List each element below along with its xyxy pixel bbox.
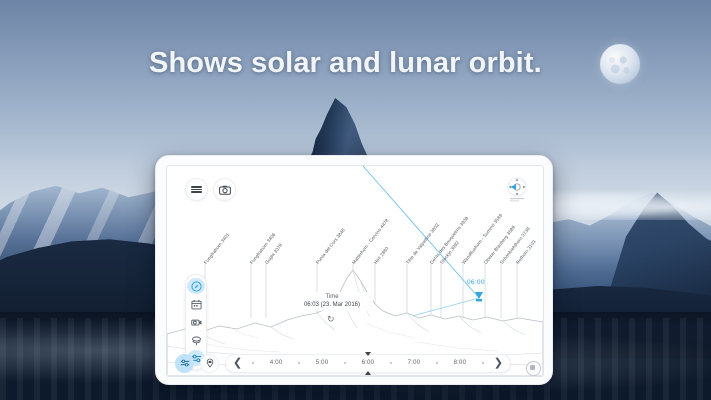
time-tick-label: 7:00 <box>408 360 420 366</box>
refresh-icon[interactable]: ↻ <box>327 314 335 325</box>
sidebar-item-compass[interactable] <box>187 278 205 294</box>
time-tooltip: Time 06:03 (23. Mar 2016) <box>291 292 373 311</box>
time-minor-tick <box>436 362 438 364</box>
sidebar-item-layers[interactable] <box>187 332 205 348</box>
time-minor-tick <box>482 362 484 364</box>
compass-badge-icon[interactable] <box>501 176 533 202</box>
camera-view-icon <box>191 317 202 328</box>
time-scrubber[interactable]: ❮ 4:00 5:00 6:00 7:00 8:00 ❯ <box>225 354 511 373</box>
moon-icon <box>600 44 640 84</box>
calendar-icon <box>191 299 202 310</box>
time-minor-tick <box>390 362 392 364</box>
time-tick-label: 5:00 <box>316 360 328 366</box>
time-minor-tick <box>298 362 300 364</box>
time-cursor-top <box>365 352 371 356</box>
hamburger-bar <box>191 191 202 193</box>
hamburger-bar <box>191 189 202 191</box>
sidebar-item-calendar[interactable] <box>187 296 205 312</box>
hamburger-menu-icon[interactable] <box>185 178 208 201</box>
location-pin-icon <box>205 358 215 368</box>
time-tooltip-value: 06:03 (23. Mar 2016) <box>291 301 373 309</box>
tablet-screen: Fungfrahorn 3401 Fungfrahorn 3406 Gugla … <box>166 165 544 377</box>
layers-icon <box>191 335 202 346</box>
tablet-home-button[interactable] <box>526 361 541 376</box>
sun-marker-icon <box>475 292 483 301</box>
page-title: Shows solar and lunar orbit. <box>149 47 542 80</box>
time-tick-label: 6:00 <box>362 360 374 366</box>
time-tick-list: 4:00 5:00 6:00 7:00 8:00 <box>244 360 492 366</box>
time-tick-label: 4:00 <box>270 360 282 366</box>
sidebar-item-camera-view[interactable] <box>187 314 205 330</box>
time-minor-tick <box>252 362 254 364</box>
bottom-toolbar: ❮ 4:00 5:00 6:00 7:00 8:00 ❯ <box>167 350 543 376</box>
time-cursor-bottom <box>365 371 371 375</box>
chevron-right-icon[interactable]: ❯ <box>492 358 505 369</box>
sliders-icon <box>180 358 190 368</box>
tablet-device: Fungfrahorn 3401 Fungfrahorn 3406 Gugla … <box>155 155 553 385</box>
time-tick-label: 8:00 <box>454 360 466 366</box>
screenshot-root: Shows solar and lunar orbit. <box>0 0 711 400</box>
camera-icon[interactable] <box>213 178 236 201</box>
time-minor-tick <box>344 362 346 364</box>
compass-icon <box>191 281 202 292</box>
sun-time-label: 06:00 <box>467 279 485 286</box>
chevron-left-icon[interactable]: ❮ <box>231 358 244 369</box>
hamburger-bar <box>191 186 202 188</box>
time-tooltip-label: Time <box>291 293 373 301</box>
settings-button[interactable] <box>175 354 194 373</box>
location-button[interactable] <box>200 354 219 373</box>
